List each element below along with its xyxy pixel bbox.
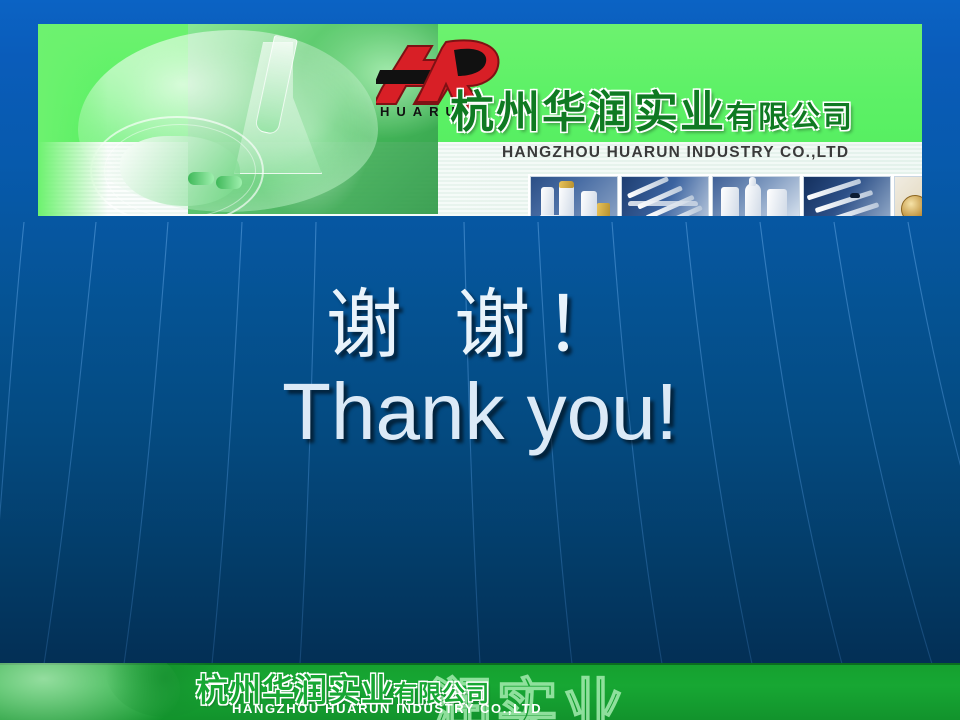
banner-company-name-en: HANGZHOU HUARUN INDUSTRY CO.,LTD bbox=[502, 144, 849, 162]
photo-left-fade bbox=[38, 24, 108, 216]
product-photo-glass-syringes bbox=[803, 176, 891, 216]
footer-bar: 润实业 杭州华润实业有限公司 HANGZHOU HUARUN INDUSTRY … bbox=[0, 663, 960, 720]
product-photo-syringe-line bbox=[621, 176, 709, 216]
banner-company-name-cn-main: 杭州华润实业 bbox=[450, 87, 726, 138]
banner-company-name-cn-suffix: 有限公司 bbox=[726, 100, 854, 135]
thanks-chinese-text: 谢 谢！ bbox=[0, 286, 960, 364]
product-photo-strip bbox=[528, 174, 922, 216]
thanks-english-text: Thank you! bbox=[0, 372, 960, 452]
lens-ring-decoration bbox=[104, 124, 256, 216]
footer-company-name-en: HANGZHOU HUARUN INDUSTRY CO.,LTD bbox=[232, 701, 542, 716]
banner-company-name-cn: 杭州华润实业有限公司 bbox=[450, 76, 854, 140]
product-photo-amber-jars bbox=[894, 176, 922, 216]
thank-you-block: 谢 谢！ Thank you! bbox=[0, 286, 960, 452]
company-header-banner: HUARUN 杭州华润实业有限公司 HANGZHOU HUARUN INDUST… bbox=[38, 24, 922, 216]
product-photo-dropper-bottles bbox=[712, 176, 800, 216]
product-photo-spray-bottles bbox=[530, 176, 618, 216]
slide-canvas: HUARUN 杭州华润实业有限公司 HANGZHOU HUARUN INDUST… bbox=[0, 0, 960, 720]
